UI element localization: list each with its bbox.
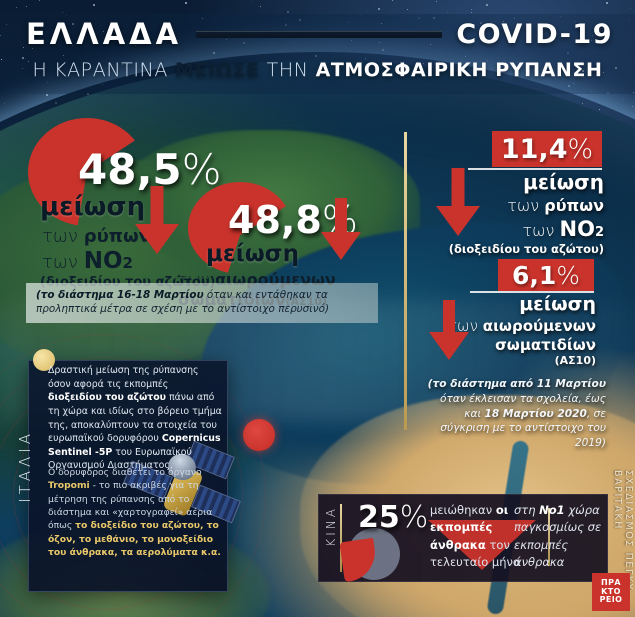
panel-country-label: ΙΤΑΛΙΑ <box>16 430 34 503</box>
arrow-down-no2-right <box>435 168 481 240</box>
caption-left-period: (το διάστημα 16-18 Μαρτίου όταν και εντά… <box>26 283 378 323</box>
page-title-topic: COVID-19 <box>456 19 613 50</box>
subtitle-part-4: ΑΤΜΟΣΦΑΙΡΙΚΗ ΡΥΠΑΝΣΗ <box>316 59 603 81</box>
china-value: 25% <box>358 500 428 535</box>
panel-p1-b: διοξειδίου του αζώτου <box>48 392 166 403</box>
arrow-down-pm-right <box>428 300 470 364</box>
pie-chart-china <box>348 528 400 580</box>
panel-p1-a: Δραστική μείωση της ρύπανσης όσον αφορά … <box>48 365 199 390</box>
subtitle-part-3: ΤΗΝ <box>267 59 309 81</box>
panel-paragraph-1: Δραστική μείωση της ρύπανσης όσον αφορά … <box>48 364 224 473</box>
china-desc-a: μειώθηκαν <box>430 503 496 517</box>
subtitle-part-2: ΜΕΙΩΣΕ <box>175 59 260 81</box>
china-label: ΚΙΝΑ <box>324 506 338 547</box>
infographic-root: ΕΛΛΑΔΑ COVID-19 Η ΚΑΡΑΝΤΙΝΑ ΜΕΙΩΣΕ ΤΗΝ Α… <box>0 0 635 617</box>
arrow-down-no2-left <box>134 186 180 258</box>
right-rail-divider <box>404 132 407 430</box>
agency-logo: ΠΡΑ ΚΤΟ ΡΕΙΟ <box>592 573 630 611</box>
caption-left-bold: (το διάστημα 16-18 Μαρτίου <box>36 289 204 301</box>
panel-p2-b: Tropomi <box>48 480 90 491</box>
china-note-b: Νο1 <box>539 503 565 517</box>
stat-no2-right-value-box: 11,4% <box>492 131 602 167</box>
caption-right-period: (το διάστημα από 11 Μαρτίου όταν έκλεισα… <box>424 377 606 451</box>
panel-paragraph-2: Ο δορυφόρος διαθέτει το όργανο Tropomi -… <box>48 466 224 559</box>
panel-p2-a: Ο δορυφόρος διαθέτει το όργανο <box>48 467 202 478</box>
china-note-a: στη <box>514 503 539 517</box>
header-row-subtitle: Η ΚΑΡΑΝΤΙΝΑ ΜΕΙΩΣΕ ΤΗΝ ΑΤΜΟΣΦΑΙΡΙΚΗ ΡΥΠΑ… <box>0 54 635 86</box>
stat-no2-right-note: (διοξειδίου του αζώτου) <box>432 242 604 256</box>
page-title-country: ΕΛΛΑΔΑ <box>26 17 182 51</box>
caption-right-bold-1: (το διάστημα από 11 Μαρτίου <box>428 378 606 390</box>
header-divider <box>196 31 442 38</box>
caption-right-bold-2: 18 Μαρτίου 2020 <box>484 408 586 420</box>
stat-pm-right-value-box: 6,1% <box>498 259 594 291</box>
arrow-down-pm-left <box>320 198 362 264</box>
china-note: στη Νο1 χώρα παγκοσμίως σε εκπομπές άνθρ… <box>514 502 604 571</box>
header-row-primary: ΕΛΛΑΔΑ COVID-19 <box>0 16 635 52</box>
pie-slice-25 <box>339 538 378 582</box>
hotspot-dot-greece <box>243 419 275 451</box>
subtitle-part-1: Η ΚΑΡΑΝΤΙΝΑ <box>33 59 168 81</box>
logo-line-3: ΡΕΙΟ <box>600 596 623 605</box>
header: ΕΛΛΑΔΑ COVID-19 Η ΚΑΡΑΝΤΙΝΑ ΜΕΙΩΣΕ ΤΗΝ Α… <box>0 14 635 94</box>
